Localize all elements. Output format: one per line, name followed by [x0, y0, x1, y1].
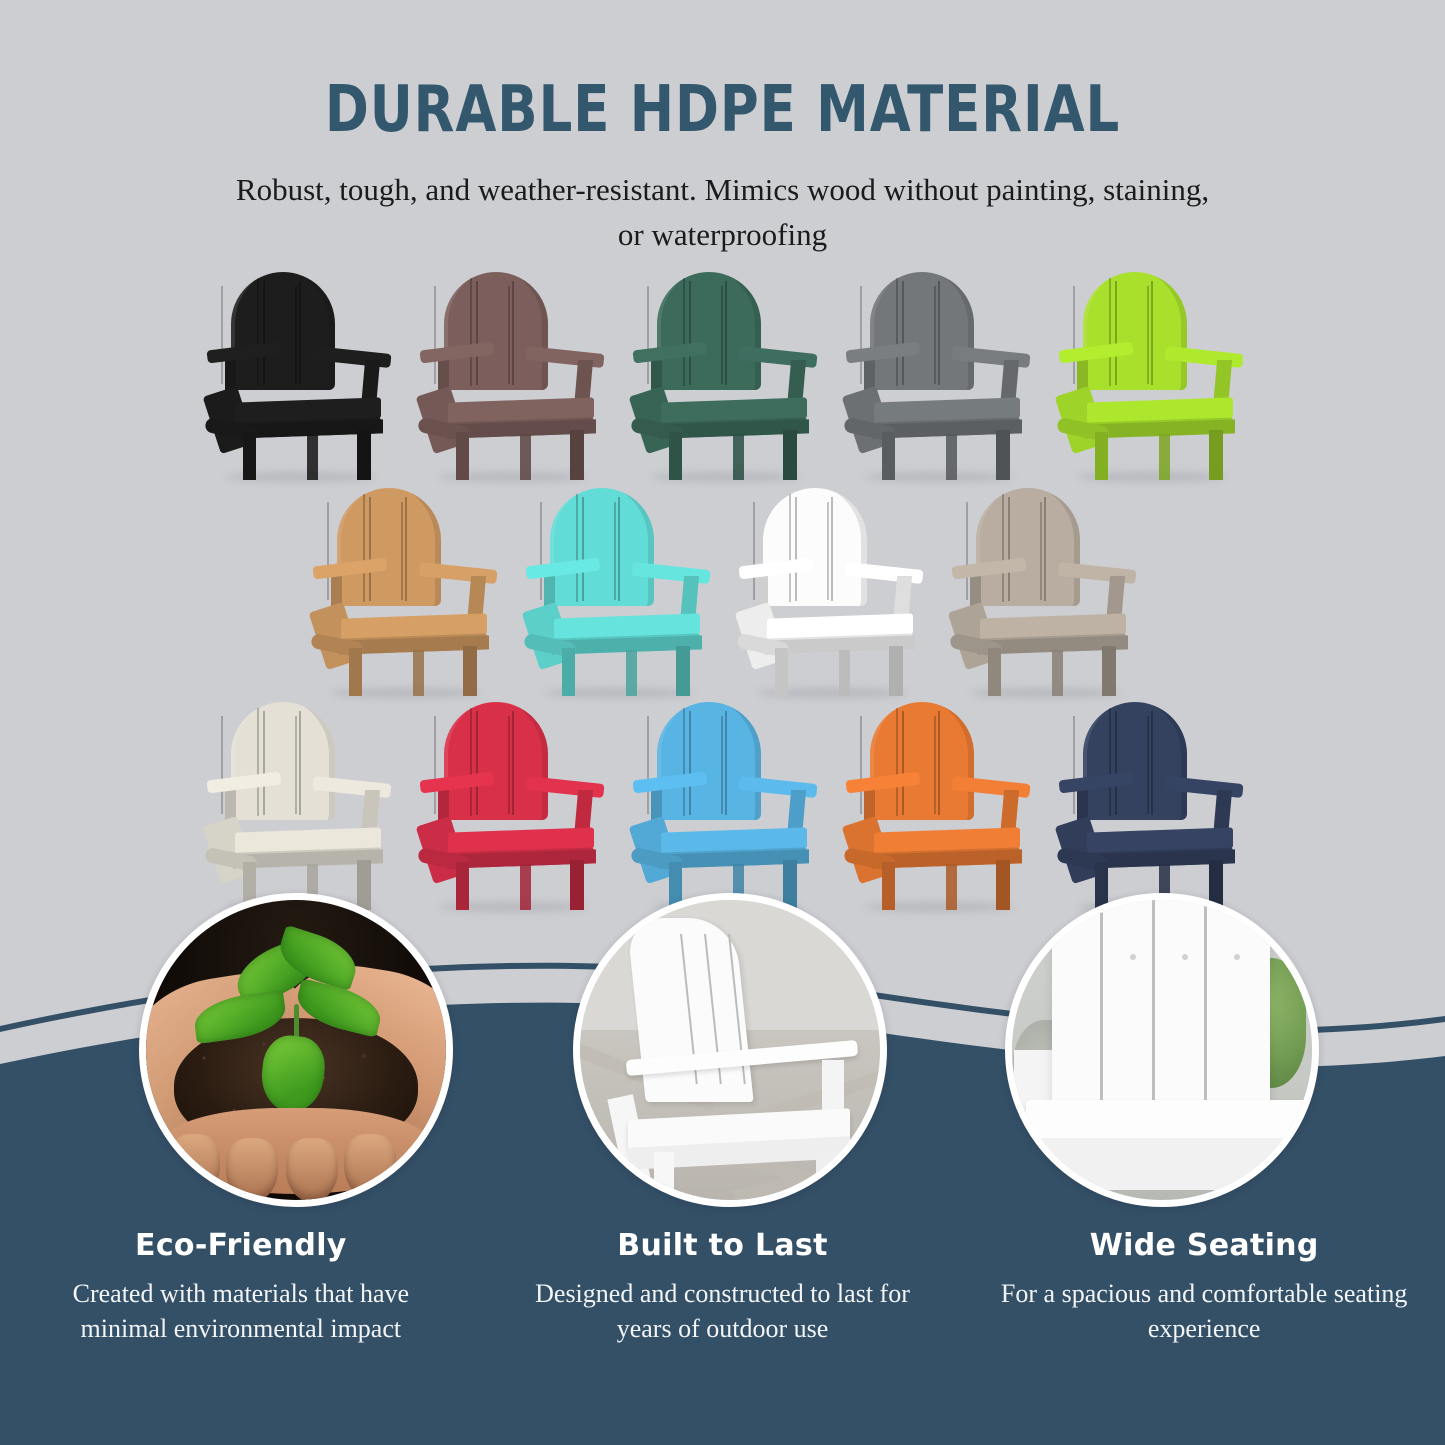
chair-slat [221, 716, 223, 814]
chair-leg [839, 650, 850, 696]
chair-swatch-dark-green[interactable] [616, 268, 829, 483]
chair-leg [946, 434, 957, 480]
chair-back [1083, 272, 1187, 390]
feature-description: Created with materials that have minimal… [31, 1277, 451, 1346]
chair-back [763, 488, 867, 606]
hands-holding-seedling-photo [146, 900, 446, 1200]
chair-leg [889, 646, 903, 696]
chair-leg [520, 434, 531, 480]
chair-swatch-taupe[interactable] [936, 484, 1149, 699]
chair-slat [295, 716, 297, 814]
feature-title: Built to Last [500, 1228, 946, 1263]
chair-slat [327, 502, 329, 600]
chair-leg [456, 432, 469, 480]
feature-eco-friendly: Eco-Friendly Created with materials that… [0, 1228, 482, 1346]
chair-slat [1147, 286, 1149, 384]
chair-slat [896, 278, 898, 386]
chair-leg [307, 434, 318, 480]
chair-slat [221, 286, 223, 384]
chair-slat [508, 716, 510, 814]
chair-leg [1095, 432, 1108, 480]
chair-leg [1159, 434, 1170, 480]
chair-slat [896, 708, 898, 816]
feature-description: For a spacious and comfortable seating e… [994, 1277, 1414, 1346]
chair-slat [1002, 494, 1004, 602]
chair-slat [1152, 900, 1155, 1114]
chair-back [231, 702, 335, 820]
chair-slat [860, 286, 862, 384]
chair-swatch-black[interactable] [190, 268, 403, 483]
chair-leg [413, 650, 424, 696]
chair-swatch-orange[interactable] [829, 698, 1042, 913]
chair-back [550, 488, 654, 606]
chair-slat [966, 502, 968, 600]
chair-back [657, 272, 761, 390]
chair-swatch-navy-blue[interactable] [1042, 698, 1255, 913]
chair-slat [934, 286, 936, 384]
chair-slat [1073, 716, 1075, 814]
chair-slat [753, 502, 755, 600]
chair-leg [562, 648, 575, 696]
chair-body [610, 918, 846, 1178]
chair-slat [257, 708, 259, 816]
feature-photo-built-to-last [573, 893, 887, 1207]
chair-leg [775, 648, 788, 696]
chair-slat [683, 278, 685, 386]
feature-title: Wide Seating [981, 1228, 1427, 1263]
chair-back [1083, 702, 1187, 820]
chair-leg [349, 648, 362, 696]
chair-leg [243, 432, 256, 480]
chair-swatch-lime-green[interactable] [1042, 268, 1255, 483]
chair-back [444, 272, 548, 390]
chair-bolt [1234, 954, 1240, 960]
chair-slat [1109, 708, 1111, 816]
finger [286, 1138, 338, 1200]
chair-slat [721, 286, 723, 384]
chair-slat [934, 716, 936, 814]
chair-back [444, 702, 548, 820]
chair-slat [508, 286, 510, 384]
chair-slat [860, 716, 862, 814]
chair-back [1052, 900, 1270, 1134]
chair-seat [1026, 1100, 1308, 1142]
promo-graphic: DURABLE HDPE MATERIAL Robust, tough, and… [0, 0, 1445, 1445]
chair-slat [614, 502, 616, 600]
chair-leg [783, 430, 797, 480]
chair-slat [470, 708, 472, 816]
chair-slat [363, 494, 365, 602]
feature-wide-seating: Wide Seating For a spacious and comforta… [963, 1228, 1445, 1346]
finger [226, 1138, 278, 1200]
feature-description: Designed and constructed to last for yea… [513, 1277, 933, 1346]
wide-chair-seat-closeup-photo [1012, 900, 1312, 1200]
chair-slat [576, 494, 578, 602]
chair-back [870, 272, 974, 390]
feature-title: Eco-Friendly [18, 1228, 464, 1263]
chair-seat-lower [1026, 1138, 1308, 1190]
chair-back [337, 488, 441, 606]
feature-photo-eco-friendly [139, 893, 453, 1207]
chair-swatch-red[interactable] [403, 698, 616, 913]
chair-leg [1052, 650, 1063, 696]
chair-swatch-light-blue[interactable] [616, 698, 829, 913]
chair-leg [570, 430, 584, 480]
chair-slat [401, 502, 403, 600]
chair-slat [1109, 278, 1111, 386]
chair-slat [647, 286, 649, 384]
chair-slat [434, 716, 436, 814]
chair-slat [1040, 502, 1042, 600]
header: DURABLE HDPE MATERIAL Robust, tough, and… [0, 0, 1445, 258]
chair-leg [996, 430, 1010, 480]
chair-row-2 [0, 484, 1445, 699]
chair-slat [1073, 286, 1075, 384]
chair-slat [789, 494, 791, 602]
feature-photo-wide-seating [1005, 893, 1319, 1207]
page-title: DURABLE HDPE MATERIAL [58, 78, 1387, 142]
chair-slat [540, 502, 542, 600]
chair-swatch-turquoise[interactable] [510, 484, 723, 699]
chair-leg [1102, 646, 1116, 696]
chair-bolt [1130, 954, 1136, 960]
chair-slat [1204, 900, 1207, 1114]
chair-swatch-teak[interactable] [297, 484, 510, 699]
chair-slat [470, 278, 472, 386]
chair-leg [463, 646, 477, 696]
chair-color-grid [0, 268, 1445, 918]
chair-leg [626, 650, 637, 696]
chair-row-3 [0, 698, 1445, 913]
chair-leg [816, 1146, 836, 1200]
chair-slat [827, 502, 829, 600]
chair-swatch-ivory[interactable] [190, 698, 403, 913]
white-adirondack-chair-patio-photo [580, 900, 880, 1200]
chair-leg [676, 646, 690, 696]
chair-leg [669, 432, 682, 480]
chair-bolt [1182, 954, 1188, 960]
chair-row-1 [0, 268, 1445, 483]
chair-swatch-gray[interactable] [829, 268, 1042, 483]
chair-back [870, 702, 974, 820]
chair-slat [683, 708, 685, 816]
chair-leg [882, 432, 895, 480]
chair-slat [1147, 716, 1149, 814]
finger [344, 1134, 396, 1198]
chair-back [976, 488, 1080, 606]
chair-leg [988, 648, 1001, 696]
finger [168, 1134, 220, 1198]
chair-back [231, 272, 335, 390]
chair-slat [434, 286, 436, 384]
chair-slat [721, 716, 723, 814]
feature-captions: Eco-Friendly Created with materials that… [0, 1228, 1445, 1346]
chair-leg [357, 430, 371, 480]
chair-slat [1100, 900, 1103, 1114]
chair-swatch-brown[interactable] [403, 268, 616, 483]
chair-leg [733, 434, 744, 480]
chair-slat [295, 286, 297, 384]
feature-built-to-last: Built to Last Designed and constructed t… [482, 1228, 964, 1346]
chair-slat [647, 716, 649, 814]
chair-back [657, 702, 761, 820]
page-subtitle: Robust, tough, and weather-resistant. Mi… [223, 168, 1223, 258]
chair-leg [654, 1152, 674, 1200]
chair-swatch-white[interactable] [723, 484, 936, 699]
chair-leg [1209, 430, 1223, 480]
feature-photo-circles [0, 893, 1445, 1213]
chair-slat [257, 278, 259, 386]
